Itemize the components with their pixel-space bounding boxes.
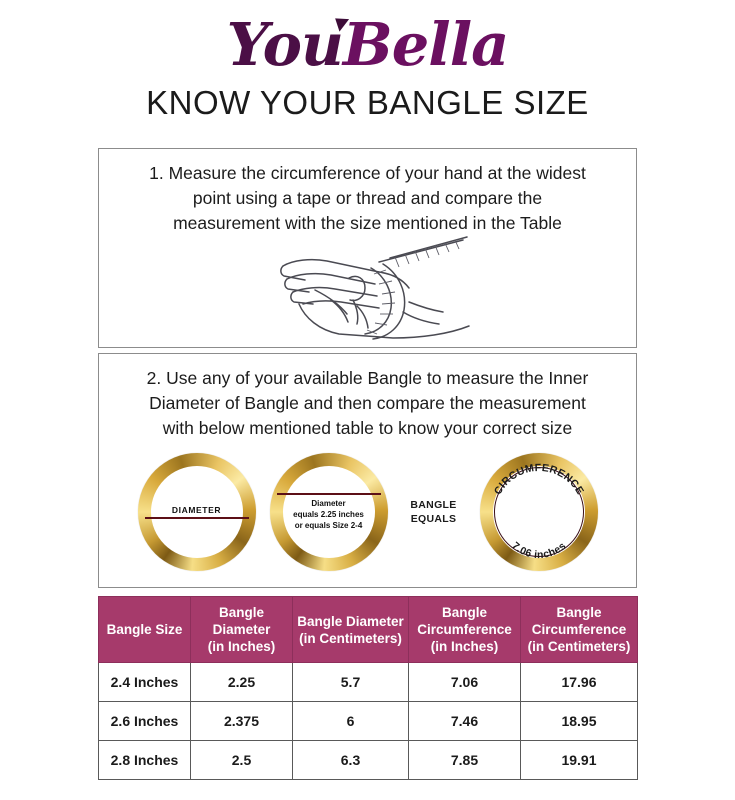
circumference-arc-bottom-text: 7.06 inches xyxy=(509,540,568,561)
table-row: 2.6 Inches 2.375 6 7.46 18.95 xyxy=(99,702,638,741)
page-title: KNOW YOUR BANGLE SIZE xyxy=(0,78,735,138)
bangle-equals-line-1: BANGLE xyxy=(410,498,456,512)
step-1-line-2: point using a tape or thread and compare… xyxy=(119,186,616,211)
cell-diameter-centimeters: 6 xyxy=(293,702,409,741)
step-2-line-1: 2. Use any of your available Bangle to m… xyxy=(119,366,616,391)
circumference-curved-text: CIRCUMFERENCE 7.06 inches xyxy=(480,453,598,571)
cell-size: 2.6 Inches xyxy=(99,702,191,741)
diameter-caption: Diameter equals 2.25 inches or equals Si… xyxy=(277,498,381,531)
cell-circumference-centimeters: 19.91 xyxy=(521,741,638,780)
step-2-line-3: with below mentioned table to know your … xyxy=(119,416,616,441)
step-2-line-2: Diameter of Bangle and then compare the … xyxy=(119,391,616,416)
header-line: (in Centimeters) xyxy=(523,638,635,655)
bangle-equals-line-2: EQUALS xyxy=(410,512,456,526)
step-1-line-3: measurement with the size mentioned in t… xyxy=(119,211,616,236)
cell-diameter-centimeters: 6.3 xyxy=(293,741,409,780)
cell-diameter-inches: 2.5 xyxy=(191,741,293,780)
bangle-diagram-diameter-value: Diameter equals 2.25 inches or equals Si… xyxy=(263,451,395,573)
brand-logo-text: YouBella xyxy=(227,14,509,76)
cell-circumference-centimeters: 18.95 xyxy=(521,702,638,741)
step-2-text: 2. Use any of your available Bangle to m… xyxy=(99,354,636,441)
table-row: 2.8 Inches 2.5 6.3 7.85 19.91 xyxy=(99,741,638,780)
diameter-line xyxy=(277,493,381,495)
header-line: (in Inches) xyxy=(411,638,518,655)
header-line: Bangle xyxy=(411,604,518,621)
diameter-caption-line-1: Diameter xyxy=(277,498,381,509)
header-line: Circumference xyxy=(411,621,518,638)
bangle-diagram-circumference: CIRCUMFERENCE 7.06 inches xyxy=(473,451,605,573)
table-header-row: Bangle Size Bangle Diameter (in Inches) … xyxy=(99,597,638,663)
header-line: Circumference xyxy=(523,621,635,638)
step-1-text: 1. Measure the circumference of your han… xyxy=(99,149,636,236)
brand-logo: YouBella xyxy=(0,0,735,78)
header-line: Bangle Size xyxy=(101,621,188,638)
header-line: (in Inches) xyxy=(193,638,290,655)
bangle-size-table: Bangle Size Bangle Diameter (in Inches) … xyxy=(98,596,638,780)
bangle-diagram-diameter: DIAMETER xyxy=(131,451,263,573)
diameter-label: DIAMETER xyxy=(145,505,249,515)
column-header-diameter-centimeters: Bangle Diameter (in Centimeters) xyxy=(293,597,409,663)
diameter-annotation: DIAMETER xyxy=(145,505,249,519)
step-1-line-1: 1. Measure the circumference of your han… xyxy=(119,161,616,186)
brand-name-part-2: Bella xyxy=(343,10,508,79)
header-line: Bangle Diameter xyxy=(295,613,406,630)
column-header-bangle-size: Bangle Size xyxy=(99,597,191,663)
column-header-circumference-centimeters: Bangle Circumference (in Centimeters) xyxy=(521,597,638,663)
table-row: 2.4 Inches 2.25 5.7 7.06 17.96 xyxy=(99,663,638,702)
diameter-caption-line-2: equals 2.25 inches xyxy=(277,509,381,520)
diameter-caption-line-3: or equals Size 2-4 xyxy=(277,520,381,531)
column-header-circumference-inches: Bangle Circumference (in Inches) xyxy=(409,597,521,663)
column-header-diameter-inches: Bangle Diameter (in Inches) xyxy=(191,597,293,663)
cell-diameter-inches: 2.375 xyxy=(191,702,293,741)
cell-size: 2.4 Inches xyxy=(99,663,191,702)
diameter-value-annotation: Diameter equals 2.25 inches or equals Si… xyxy=(277,493,381,531)
bangle-diagram-row: DIAMETER Diameter equals 2.25 inches or … xyxy=(99,451,636,573)
circumference-arc-top-text: CIRCUMFERENCE xyxy=(491,462,585,497)
cell-circumference-centimeters: 17.96 xyxy=(521,663,638,702)
cell-circumference-inches: 7.06 xyxy=(409,663,521,702)
cell-diameter-inches: 2.25 xyxy=(191,663,293,702)
diameter-line xyxy=(145,517,249,519)
step-2-panel: 2. Use any of your available Bangle to m… xyxy=(98,353,637,588)
header-line: Bangle xyxy=(193,604,290,621)
header-line: Diameter xyxy=(193,621,290,638)
step-1-panel: 1. Measure the circumference of your han… xyxy=(98,148,637,348)
header-line: Bangle xyxy=(523,604,635,621)
header-line: (in Centimeters) xyxy=(295,630,406,647)
cell-size: 2.8 Inches xyxy=(99,741,191,780)
hand-measurement-illustration xyxy=(99,234,636,346)
bangle-equals-connector: BANGLE EQUALS xyxy=(395,451,473,573)
cell-diameter-centimeters: 5.7 xyxy=(293,663,409,702)
cell-circumference-inches: 7.85 xyxy=(409,741,521,780)
brand-name-part-1: You xyxy=(227,10,343,79)
cell-circumference-inches: 7.46 xyxy=(409,702,521,741)
hand-with-tape-icon xyxy=(253,234,483,346)
